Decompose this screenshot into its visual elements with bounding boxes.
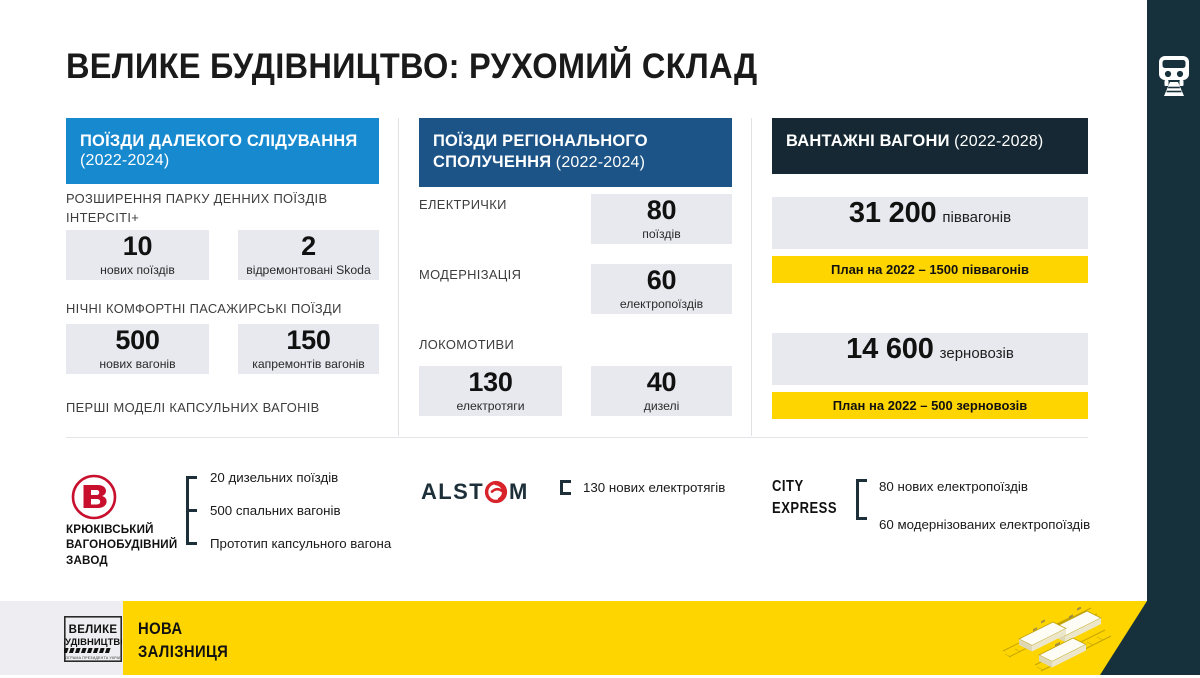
svg-text:БУДІВНИЦТВО: БУДІВНИЦТВО — [64, 636, 122, 647]
kvbz-logo-icon — [70, 473, 118, 521]
footer-title: НОВА ЗАЛІЗНИЦЯ — [138, 618, 228, 665]
footer-title-line2: ЗАЛІЗНИЦЯ — [138, 641, 228, 664]
stat-caption: поїздів — [642, 228, 680, 241]
freight-stat-box: 14 600 зерновозів — [772, 333, 1088, 385]
stat-box: 150 капремонтів вагонів — [238, 324, 379, 374]
stat-caption: відремонтовані Skoda — [246, 264, 370, 277]
stat-box: 2 відремонтовані Skoda — [238, 230, 379, 280]
partner-name-city-express: CITY EXPRESS — [772, 476, 837, 521]
partner-item: Прототип капсульного вагона — [210, 536, 391, 551]
column-long-distance-trains: ПОЇЗДИ ДАЛЕКОГО СЛІДУВАННЯ (2022-2024) Р… — [66, 118, 379, 436]
column-header-years: (2022-2028) — [954, 133, 1043, 150]
column-divider — [751, 118, 752, 436]
footer-yellow-panel — [123, 601, 1147, 675]
partner-name-line1: CITY — [772, 476, 837, 498]
stat-box: 10 нових поїздів — [66, 230, 209, 280]
row-label-lokomotyvy: ЛОКОМОТИВИ — [419, 336, 514, 355]
columns-container: ПОЇЗДИ ДАЛЕКОГО СЛІДУВАННЯ (2022-2024) Р… — [66, 118, 1088, 436]
stat-caption: електропоїздів — [620, 298, 703, 311]
column-header: ВАНТАЖНІ ВАГОНИ (2022-2028) — [772, 118, 1088, 174]
freight-stat-unit: піввагонів — [942, 209, 1011, 226]
stat-number: 130 — [468, 369, 512, 396]
column-header: ПОЇЗДИ ДАЛЕКОГО СЛІДУВАННЯ (2022-2024) — [66, 118, 379, 184]
column-header-years: (2022-2024) — [556, 154, 645, 171]
freight-stat-unit: зерновозів — [940, 345, 1014, 362]
svg-text:M: M — [509, 479, 529, 504]
partner-item: 500 спальних вагонів — [210, 503, 341, 518]
alstom-logo-icon: ALST M — [421, 478, 539, 506]
stat-number: 80 — [647, 197, 676, 224]
freight-stat-number: 14 600 — [846, 333, 934, 366]
partner-name-line2: EXPRESS — [772, 498, 837, 520]
stat-caption: дизелі — [644, 400, 680, 413]
stat-box: 500 нових вагонів — [66, 324, 209, 374]
partner-name-kvbz: КРЮКІВСЬКИЙ ВАГОНОБУДІВНИЙ ЗАВОД — [66, 522, 177, 568]
column-freight-cars: ВАНТАЖНІ ВАГОНИ (2022-2028) 31 200 півва… — [772, 118, 1088, 436]
stat-caption: нових вагонів — [99, 358, 175, 371]
column-regional-trains: ПОЇЗДИ РЕГІОНАЛЬНОГО СПОЛУЧЕННЯ (2022-20… — [419, 118, 732, 436]
velyke-budivnytstvo-badge-icon: ВЕЛИКЕ БУДІВНИЦТВО ПРОГРАМА ПРЕЗИДЕНТА У… — [64, 616, 122, 662]
stat-number: 150 — [286, 327, 330, 354]
svg-text:ПРОГРАМА ПРЕЗИДЕНТА УКРАЇНИ: ПРОГРАМА ПРЕЗИДЕНТА УКРАЇНИ — [64, 656, 122, 660]
column-header: ПОЇЗДИ РЕГІОНАЛЬНОГО СПОЛУЧЕННЯ (2022-20… — [419, 118, 732, 187]
row-label-elektrychky: ЕЛЕКТРИЧКИ — [419, 196, 507, 215]
stat-box: 60 електропоїздів — [591, 264, 732, 314]
column-header-years: (2022-2024) — [80, 152, 169, 169]
horizontal-divider — [66, 437, 1088, 438]
bracket-kvbz — [186, 476, 189, 544]
footer-title-line1: НОВА — [138, 618, 228, 641]
row-label-modernizatsiya: МОДЕРНІЗАЦІЯ — [419, 266, 521, 285]
stat-box: 40 дизелі — [591, 366, 732, 416]
freight-stat-box: 31 200 піввагонів — [772, 197, 1088, 249]
plan-badge: План на 2022 – 1500 піввагонів — [772, 256, 1088, 283]
bracket-city-express — [856, 479, 859, 519]
section-label-night-trains: НІЧНІ КОМФОРТНІ ПАСАЖИРСЬКІ ПОЇЗДИ — [66, 300, 376, 319]
freight-stat-number: 31 200 — [849, 197, 937, 230]
stat-box: 130 електротяги — [419, 366, 562, 416]
partner-item: 60 модернізованих електропоїздів — [879, 517, 1090, 532]
plan-badge: План на 2022 – 500 зерновозів — [772, 392, 1088, 419]
section-label-capsule-cars: ПЕРШІ МОДЕЛІ КАПСУЛЬНИХ ВАГОНІВ — [66, 399, 376, 418]
column-header-title: ПОЇЗДИ ДАЛЕКОГО СЛІДУВАННЯ — [80, 132, 357, 150]
stat-number: 40 — [647, 369, 676, 396]
svg-text:ВЕЛИКЕ: ВЕЛИКЕ — [69, 624, 118, 636]
stat-number: 60 — [647, 267, 676, 294]
stat-number: 500 — [115, 327, 159, 354]
stat-caption: капремонтів вагонів — [252, 358, 365, 371]
isometric-train-illustration-icon — [995, 607, 1145, 673]
partner-item: 130 нових електротягів — [583, 480, 725, 495]
page-title: ВЕЛИКЕ БУДІВНИЦТВО: РУХОМИЙ СКЛАД — [66, 47, 757, 87]
column-divider — [398, 118, 399, 436]
partners-row: КРЮКІВСЬКИЙ ВАГОНОБУДІВНИЙ ЗАВОД 20 дизе… — [66, 470, 1088, 580]
footer-dark-panel — [1147, 601, 1200, 675]
svg-text:ALST: ALST — [421, 479, 484, 504]
bracket-alstom — [560, 480, 563, 495]
train-icon — [1157, 54, 1191, 98]
column-header-title: ВАНТАЖНІ ВАГОНИ — [786, 132, 950, 150]
partner-item: 80 нових електропоїздів — [879, 479, 1028, 494]
stat-number: 2 — [301, 233, 316, 260]
section-label-intercity: РОЗШИРЕННЯ ПАРКУ ДЕННИХ ПОЇЗДІВ ІНТЕРСІТ… — [66, 190, 357, 228]
partner-item: 20 дизельних поїздів — [210, 470, 338, 485]
stat-caption: нових поїздів — [100, 264, 175, 277]
stat-box: 80 поїздів — [591, 194, 732, 244]
stat-caption: електротяги — [456, 400, 524, 413]
stat-number: 10 — [123, 233, 152, 260]
